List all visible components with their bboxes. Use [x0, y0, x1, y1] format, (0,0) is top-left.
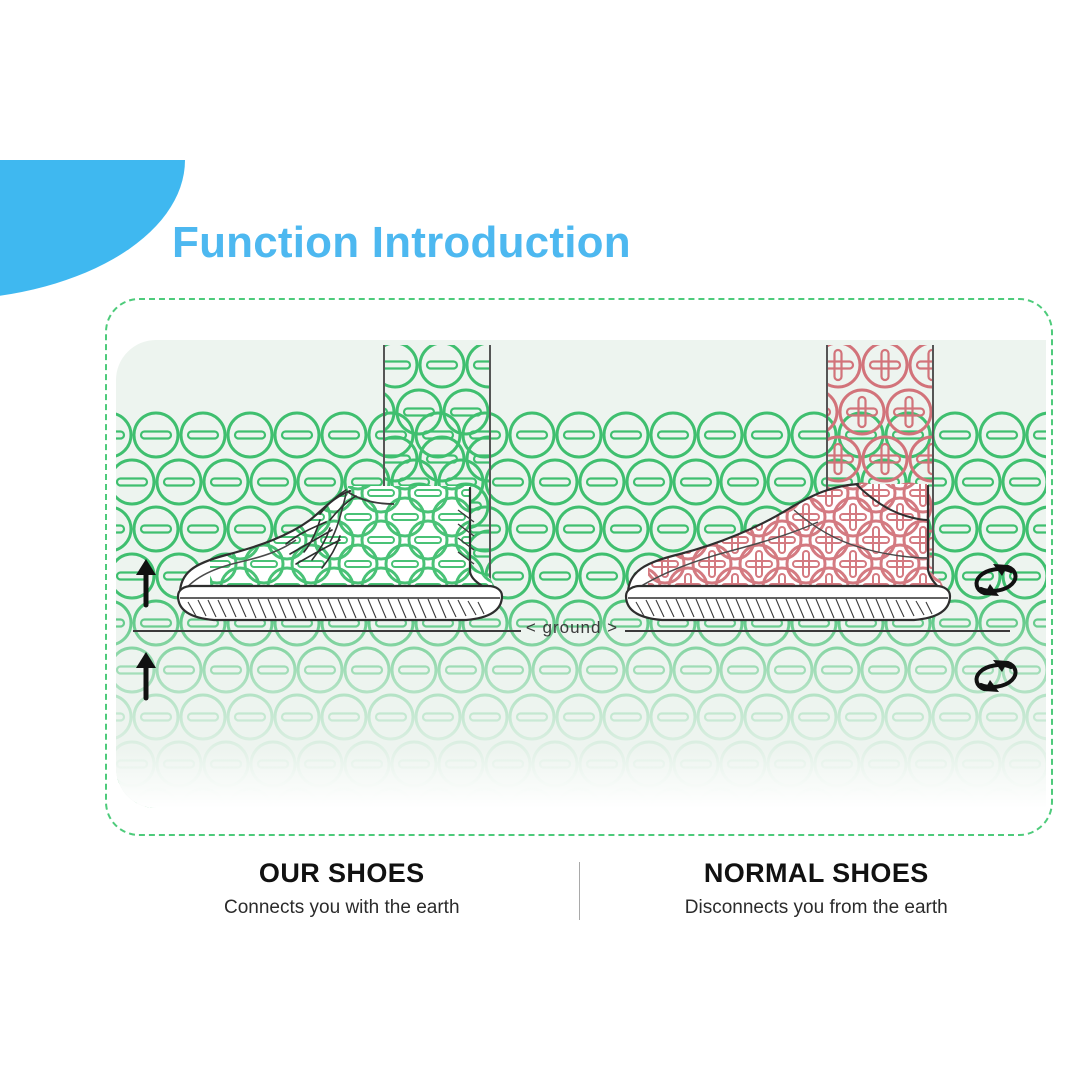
ground-line-right [625, 630, 1010, 632]
arrow-up-icon [118, 555, 174, 611]
left-shoe-illustration [170, 470, 535, 635]
ground-label: < ground > [524, 618, 620, 638]
ground-line-left [133, 630, 521, 632]
cycle-blocked-icon [968, 552, 1024, 608]
normal-shoes-subtitle: Disconnects you from the earth [580, 897, 1054, 920]
caption-our-shoes: OUR SHOES Connects you with the earth [105, 858, 579, 920]
caption-normal-shoes: NORMAL SHOES Disconnects you from the ea… [580, 858, 1054, 920]
cycle-blocked-icon [968, 648, 1024, 704]
our-shoes-title: OUR SHOES [105, 858, 579, 889]
arrow-up-icon [118, 648, 174, 704]
page-title: Function Introduction [172, 218, 631, 268]
right-shoe-illustration [618, 470, 983, 635]
blue-quarter-circle-decoration [0, 160, 185, 300]
normal-shoes-title: NORMAL SHOES [580, 858, 1054, 889]
our-shoes-subtitle: Connects you with the earth [105, 897, 579, 920]
comparison-captions: OUR SHOES Connects you with the earth NO… [105, 858, 1053, 930]
